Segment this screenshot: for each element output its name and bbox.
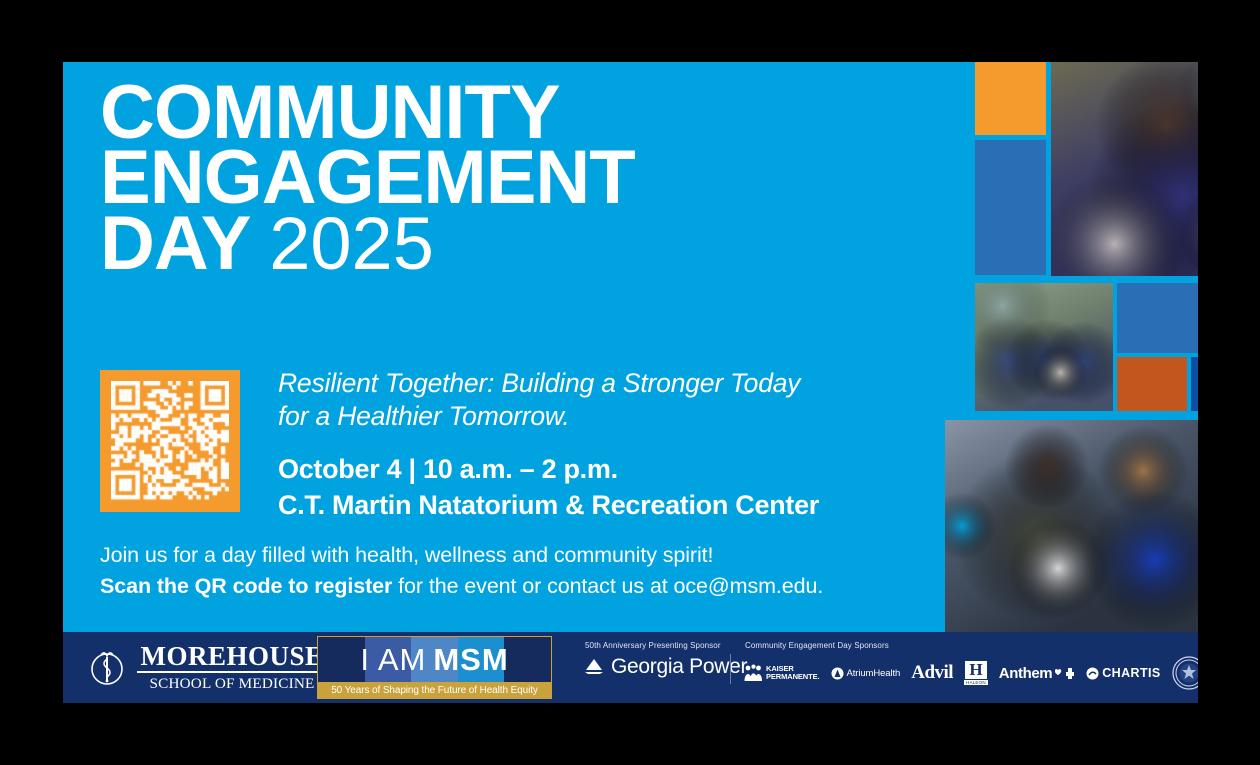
rust-block: [1117, 357, 1187, 411]
headline-day: DAY: [100, 201, 249, 286]
badge-msm: MSM: [433, 642, 508, 678]
haleon-logo[interactable]: H HALEON: [964, 661, 988, 684]
morehouse-name: MOREHOUSE: [137, 643, 327, 673]
photo-two-attendees: [945, 420, 1198, 632]
headline-line-3: DAY 2025: [100, 211, 840, 276]
call-to-action: Join us for a day filled with health, we…: [100, 540, 920, 601]
page-title: COMMUNITY ENGAGEMENT DAY 2025: [100, 80, 840, 276]
morehouse-logo[interactable]: MOREHOUSE SCHOOL OF MEDICINE: [85, 641, 325, 693]
kaiser-permanente-logo[interactable]: KAISER PERMANENTE.: [743, 663, 820, 683]
qr-code[interactable]: [111, 381, 229, 501]
event-date-time: October 4 | 10 a.m. – 2 p.m.: [278, 452, 938, 488]
atrium-circle-icon: [831, 667, 844, 680]
photo-collage: [915, 62, 1198, 632]
georgia-power-name: Georgia Power: [611, 655, 747, 679]
tagline-line-1: Resilient Together: Building a Stronger …: [278, 367, 878, 400]
kaiser-wordmark: KAISER PERMANENTE.: [766, 665, 820, 681]
deep-blue-block: [1191, 357, 1198, 411]
chartis-wordmark: CHARTIS: [1102, 666, 1160, 680]
georgia-power-logo[interactable]: Georgia Power: [583, 655, 747, 679]
cta-line-2: Scan the QR code to register for the eve…: [100, 571, 920, 602]
advil-logo[interactable]: Advil: [911, 662, 953, 684]
event-tagline: Resilient Together: Building a Stronger …: [278, 367, 878, 434]
georgia-power-icon: [583, 657, 605, 677]
orange-block: [975, 62, 1046, 135]
event-details: October 4 | 10 a.m. – 2 p.m. C.T. Martin…: [278, 452, 938, 523]
anthem-symbol-icon: [1055, 667, 1075, 680]
atrium-wordmark: AtriumHealth: [847, 668, 901, 679]
anthem-wordmark: Anthem: [999, 665, 1052, 682]
badge-text: I AM MSM: [318, 637, 551, 682]
morehouse-subtitle: SCHOOL OF MEDICINE: [137, 676, 327, 691]
kaiser-people-icon: [743, 663, 763, 683]
cta-line-1: Join us for a day filled with health, we…: [100, 540, 920, 571]
tagline-line-2: for a Healthier Tomorrow.: [278, 400, 878, 433]
chartis-circle-icon: [1086, 667, 1099, 680]
presenting-sponsor-label: 50th Anniversary Presenting Sponsor: [585, 641, 721, 650]
anthem-logo[interactable]: Anthem: [999, 665, 1075, 682]
atrium-health-logo[interactable]: AtriumHealth: [831, 667, 901, 680]
blue-block: [975, 140, 1046, 275]
seal-logo[interactable]: [1172, 656, 1198, 690]
headline-year: 2025: [269, 202, 434, 285]
photo-volunteer-group: [975, 283, 1113, 411]
morehouse-wordmark: MOREHOUSE SCHOOL OF MEDICINE: [137, 643, 327, 691]
badge-iam: I AM: [360, 642, 426, 678]
sponsor-logo-row: KAISER PERMANENTE. AtriumHealth Advil H …: [743, 656, 1198, 690]
sponsor-section: 50th Anniversary Presenting Sponsor Comm…: [575, 632, 1198, 703]
event-venue: C.T. Martin Natatorium & Recreation Cent…: [278, 488, 938, 524]
sponsor-divider: [730, 654, 731, 684]
day-sponsors-label: Community Engagement Day Sponsors: [745, 641, 889, 650]
cta-scan-emphasis: Scan the QR code to register: [100, 574, 392, 598]
qr-code-panel[interactable]: [100, 370, 240, 512]
i-am-msm-badge[interactable]: I AM MSM 50 Years of Shaping the Future …: [317, 636, 552, 699]
haleon-word: HALEON: [964, 680, 988, 685]
caduceus-seal-icon: [85, 645, 129, 689]
footer-bar: MOREHOUSE SCHOOL OF MEDICINE I AM MSM 50…: [63, 632, 1198, 703]
flyer-canvas: COMMUNITY ENGAGEMENT DAY 2025 Resilient …: [63, 62, 1198, 703]
mid-blue-block: [1117, 283, 1198, 353]
haleon-letter: H: [965, 661, 986, 678]
badge-tagline: 50 Years of Shaping the Future of Health…: [318, 682, 551, 698]
cta-contact: for the event or contact us at oce@msm.e…: [392, 574, 823, 598]
photo-student-screening: [1051, 62, 1198, 276]
chartis-logo[interactable]: CHARTIS: [1086, 666, 1160, 680]
kaiser-line-2: PERMANENTE.: [766, 673, 820, 681]
